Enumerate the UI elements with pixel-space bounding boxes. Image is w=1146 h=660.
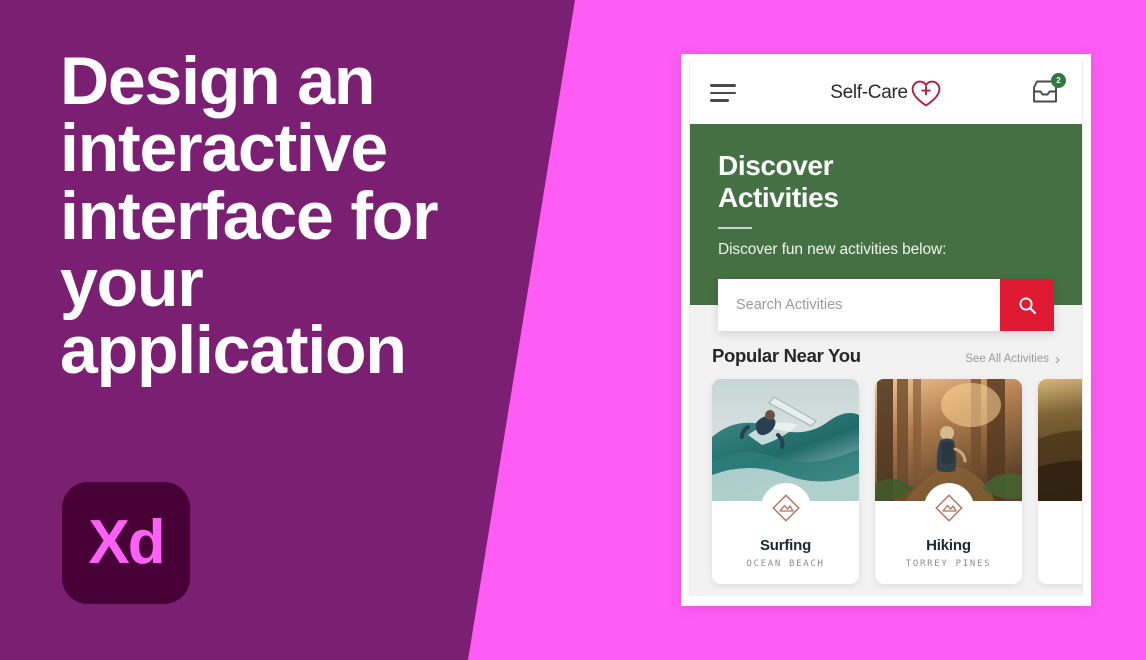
phone-screen: Self-Care 2 Discover Activities [689,62,1083,596]
golden-hour-landscape-photo [1038,379,1083,501]
activity-card-list: Surfing OCEAN BEACH [690,379,1082,584]
adobe-xd-logo-text: Xd [88,512,163,574]
hero-title-line-1: Discover [718,150,1054,182]
activity-card-body [1038,501,1083,537]
hamburger-line [710,84,736,86]
activity-card[interactable]: Surfing OCEAN BEACH [712,379,859,584]
phone-mockup: Self-Care 2 Discover Activities [681,54,1091,606]
hamburger-line [710,99,729,101]
hamburger-line [710,92,736,94]
brand-logo: Self-Care [830,78,942,108]
activity-location: OCEAN BEACH [712,559,859,569]
search-button[interactable] [1000,279,1054,331]
see-all-activities-link[interactable]: See All Activities › [965,352,1060,367]
search-bar [718,279,1054,331]
hero-section: Discover Activities Discover fun new act… [690,124,1082,305]
content-area: Popular Near You See All Activities › [690,305,1082,596]
search-icon [1018,296,1037,315]
app-bar: Self-Care 2 [690,62,1082,124]
inbox-button[interactable]: 2 [1030,78,1062,108]
search-input[interactable] [718,279,1000,331]
see-all-label: See All Activities [965,353,1049,365]
hero-title-line-2: Activities [718,182,1054,214]
activity-card[interactable]: Hiking TORREY PINES [875,379,1022,584]
activity-badge [761,483,811,533]
activity-title: Hiking [875,537,1022,554]
hero-divider [718,227,752,229]
hero-title: Discover Activities [718,150,1054,213]
activity-card[interactable] [1038,379,1083,584]
brand-text: Self-Care [830,82,908,104]
activity-location: TORREY PINES [875,559,1022,569]
page-title: Design an interactive interface for your… [60,48,460,385]
adobe-xd-logo: Xd [62,482,190,604]
popular-header: Popular Near You See All Activities › [690,345,1082,367]
activity-badge [924,483,974,533]
chevron-right-icon: › [1055,352,1060,367]
section-title: Popular Near You [712,345,861,367]
diamond-mountain-icon [934,493,964,523]
promo-panel: Design an interactive interface for your… [0,0,520,660]
activity-title: Surfing [712,537,859,554]
hamburger-icon[interactable] [710,84,736,101]
hero-subtitle: Discover fun new activities below: [718,241,1054,259]
diamond-mountain-icon [771,493,801,523]
inbox-badge-count: 2 [1051,73,1066,88]
heart-plus-icon [910,78,942,108]
